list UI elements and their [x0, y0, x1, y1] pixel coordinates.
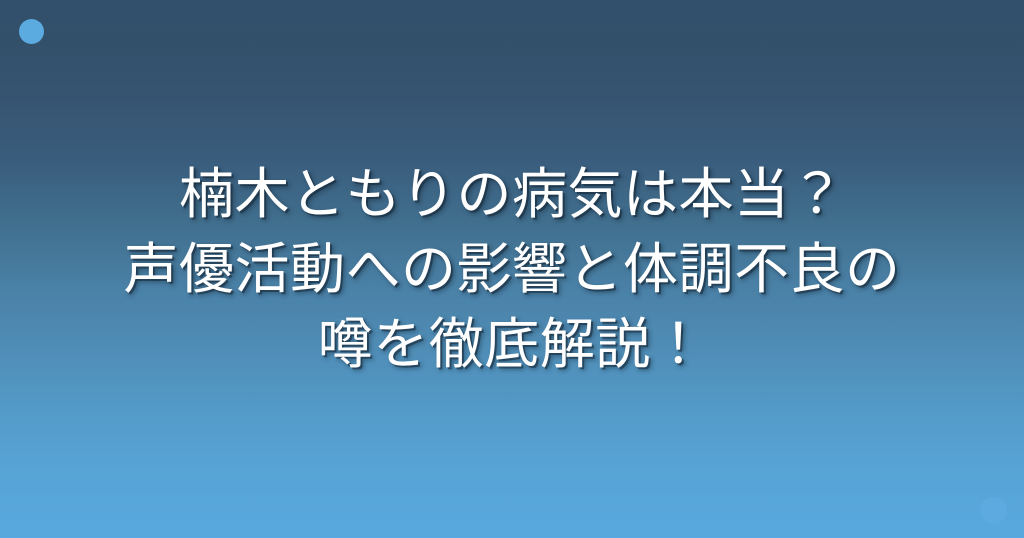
- page-title-line-2: 声優活動への影響と体調不良の: [24, 232, 1000, 307]
- article-eyecatch-card: 楠木ともりの病気は本当？ 声優活動への影響と体調不良の 噂を徹底解説！: [0, 0, 1024, 538]
- page-title-line-1: 楠木ともりの病気は本当？: [24, 157, 1000, 232]
- page-title: 楠木ともりの病気は本当？ 声優活動への影響と体調不良の 噂を徹底解説！: [0, 0, 1024, 538]
- page-title-line-3: 噂を徹底解説！: [24, 307, 1000, 382]
